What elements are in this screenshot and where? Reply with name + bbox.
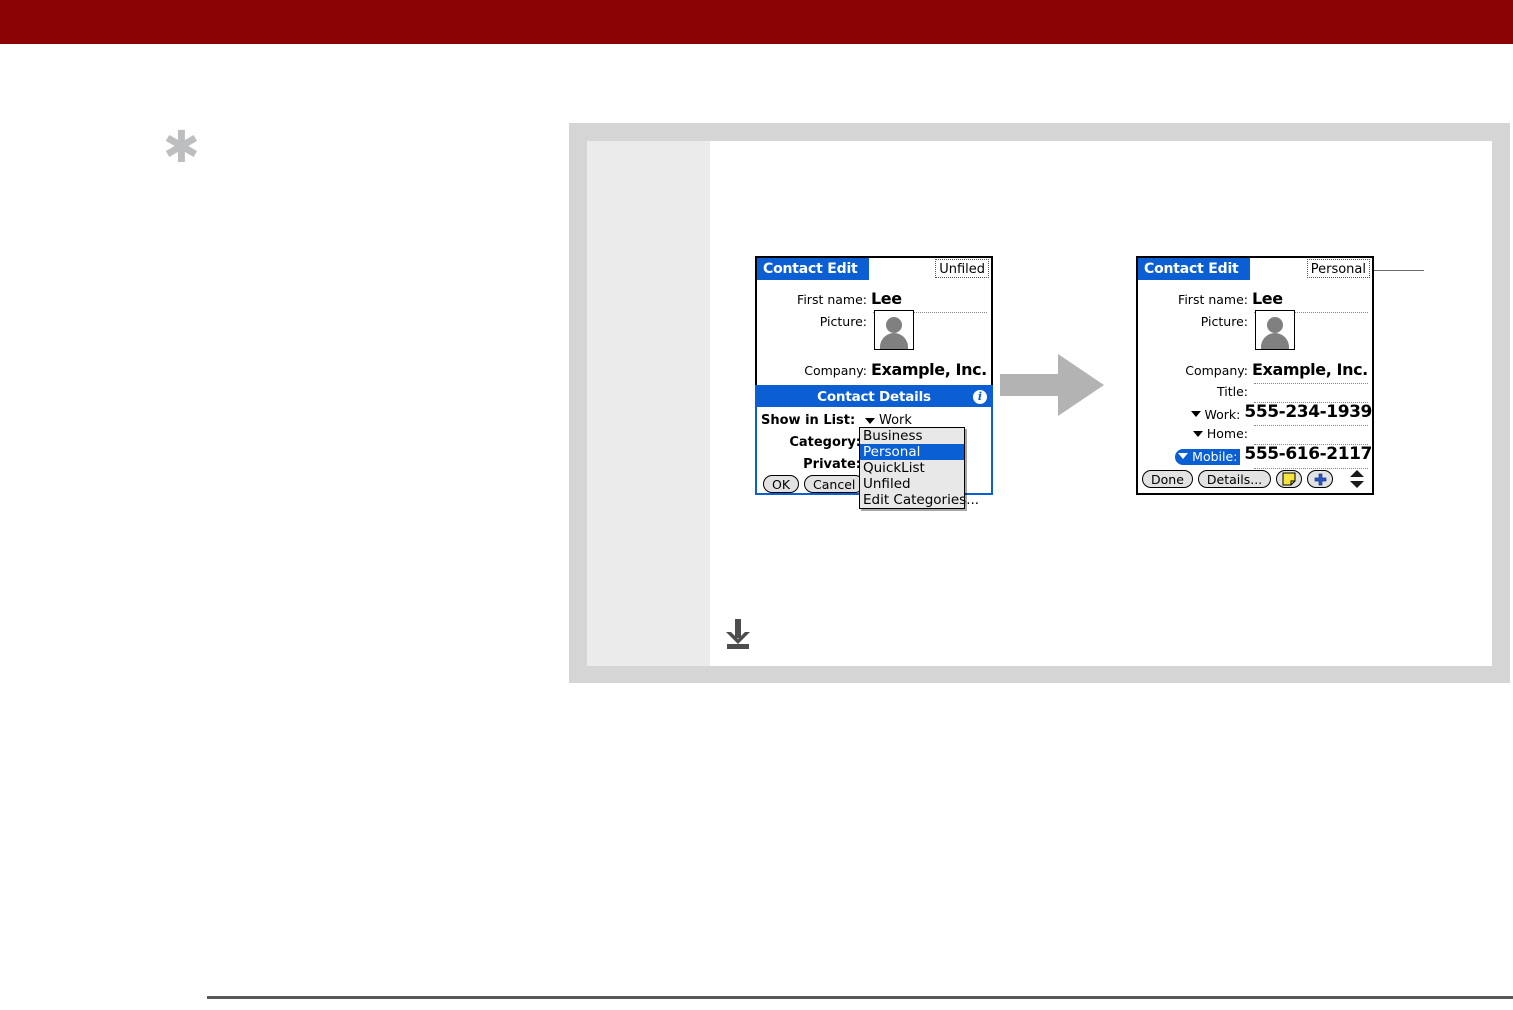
pda-screen-before: Contact Edit Unfiled First name: Lee Pic…	[755, 256, 993, 495]
field-label-picture: Picture:	[757, 314, 867, 329]
field-value-first-name-after[interactable]: Lee	[1252, 289, 1283, 308]
field-label-title: Title:	[1138, 384, 1248, 399]
callout-leader-line	[1374, 270, 1424, 271]
field-value-work[interactable]: 555-234-1939	[1244, 402, 1372, 422]
details-button[interactable]: Details...	[1198, 470, 1271, 488]
field-label-mobile-highlight: Mobile:	[1175, 449, 1240, 465]
cancel-button[interactable]: Cancel	[804, 475, 864, 493]
footer-divider	[207, 996, 1513, 999]
category-selector-after[interactable]: Personal	[1307, 259, 1370, 278]
download-arrow-icon[interactable]	[722, 617, 754, 653]
plus-icon[interactable]	[1307, 470, 1333, 488]
dialog-value-show-in-list-wrap[interactable]: Work	[865, 413, 912, 428]
screen-titlebar: Contact Edit Unfiled	[757, 258, 991, 280]
dialog-value-show-in-list: Work	[879, 413, 912, 428]
field-row-title: Title:	[1138, 384, 1372, 399]
avatar-image	[875, 311, 913, 349]
field-label-home-wrap[interactable]: Home:	[1138, 426, 1248, 441]
pda-screen-after: Contact Edit Personal First name: Lee Pi…	[1136, 256, 1374, 495]
field-label-picture-after: Picture:	[1138, 314, 1248, 329]
chevron-down-icon	[865, 418, 875, 424]
popup-item-unfiled[interactable]: Unfiled	[860, 476, 964, 492]
field-label-first-name-after: First name:	[1138, 292, 1248, 307]
field-row-first-name-after: First name: Lee	[1138, 289, 1372, 308]
dialog-body: Show in List: Work Category: Private: OK…	[757, 407, 991, 493]
screen-titlebar-after: Contact Edit Personal	[1138, 258, 1372, 280]
dialog-buttons: OK Cancel	[763, 475, 864, 493]
field-label-home: Home:	[1207, 426, 1248, 441]
info-icon[interactable]: i	[973, 390, 987, 404]
field-label-mobile: Mobile:	[1192, 449, 1237, 464]
field-row-company: Company: Example, Inc.	[757, 360, 991, 379]
avatar-head-shape-after	[1267, 317, 1283, 333]
field-label-work-wrap[interactable]: Work:	[1138, 407, 1240, 422]
chevron-down-icon-mobile	[1178, 453, 1188, 459]
field-value-company[interactable]: Example, Inc.	[871, 360, 987, 379]
popup-item-quicklist[interactable]: QuickList	[860, 460, 964, 476]
top-banner	[0, 0, 1513, 44]
avatar-body-shape-after	[1261, 333, 1289, 349]
popup-item-business[interactable]: Business	[860, 428, 964, 444]
popup-item-edit-categories[interactable]: Edit Categories...	[860, 492, 964, 508]
field-row-home: Home:	[1138, 426, 1372, 441]
ok-button[interactable]: OK	[763, 475, 799, 493]
dialog-label-show-in-list: Show in List:	[761, 413, 855, 428]
chevron-down-icon-home	[1193, 431, 1203, 437]
field-label-first-name: First name:	[757, 292, 867, 307]
field-row-work: Work: 555-234-1939	[1138, 402, 1372, 422]
right-arrow-icon	[1000, 352, 1110, 418]
asterisk-icon: ✱	[163, 128, 199, 168]
field-value-company-after[interactable]: Example, Inc.	[1252, 360, 1368, 379]
dialog-title: Contact Details	[817, 389, 931, 405]
popup-item-personal[interactable]: Personal	[860, 444, 964, 460]
page-root: ✱ Contact Edit Unfiled First name: Lee	[0, 0, 1513, 1010]
avatar-image-after	[1256, 311, 1294, 349]
field-row-company-after: Company: Example, Inc.	[1138, 360, 1372, 379]
screen-title: Contact Edit	[757, 261, 858, 277]
screen-title-after: Contact Edit	[1138, 261, 1239, 277]
category-selector[interactable]: Unfiled	[935, 259, 989, 278]
scroll-up-down-icon[interactable]	[1348, 469, 1366, 489]
chevron-down-icon-work	[1191, 411, 1201, 417]
contact-edit-form-after: First name: Lee Picture: Company: Exampl…	[1138, 280, 1372, 493]
field-label-mobile-wrap[interactable]: Mobile:	[1138, 449, 1240, 465]
field-value-mobile[interactable]: 555-616-2117	[1244, 444, 1372, 464]
dialog-label-category: Category:	[761, 435, 861, 450]
field-label-work: Work:	[1205, 407, 1241, 422]
field-label-company-after: Company:	[1138, 363, 1248, 378]
done-button[interactable]: Done	[1142, 470, 1193, 488]
field-label-company: Company:	[757, 363, 867, 378]
avatar-head-shape	[886, 317, 902, 333]
note-icon[interactable]	[1276, 470, 1302, 488]
category-popup-list: Business Personal QuickList Unfiled Edit…	[859, 427, 965, 509]
field-row-first-name: First name: Lee	[757, 289, 991, 308]
avatar-body-shape	[880, 333, 908, 349]
field-value-first-name[interactable]: Lee	[871, 289, 902, 308]
field-row-mobile: Mobile: 555-616-2117	[1138, 444, 1372, 465]
avatar-after[interactable]	[1255, 310, 1295, 350]
screen-toolbar: Done Details...	[1142, 468, 1368, 490]
dialog-titlebar: Contact Details i	[757, 387, 991, 407]
contact-details-dialog: Contact Details i Show in List: Work Cat…	[755, 385, 993, 495]
avatar[interactable]	[874, 310, 914, 350]
contact-edit-form: First name: Lee Picture: Company: Exampl…	[757, 280, 991, 493]
dialog-label-private: Private:	[761, 457, 861, 472]
